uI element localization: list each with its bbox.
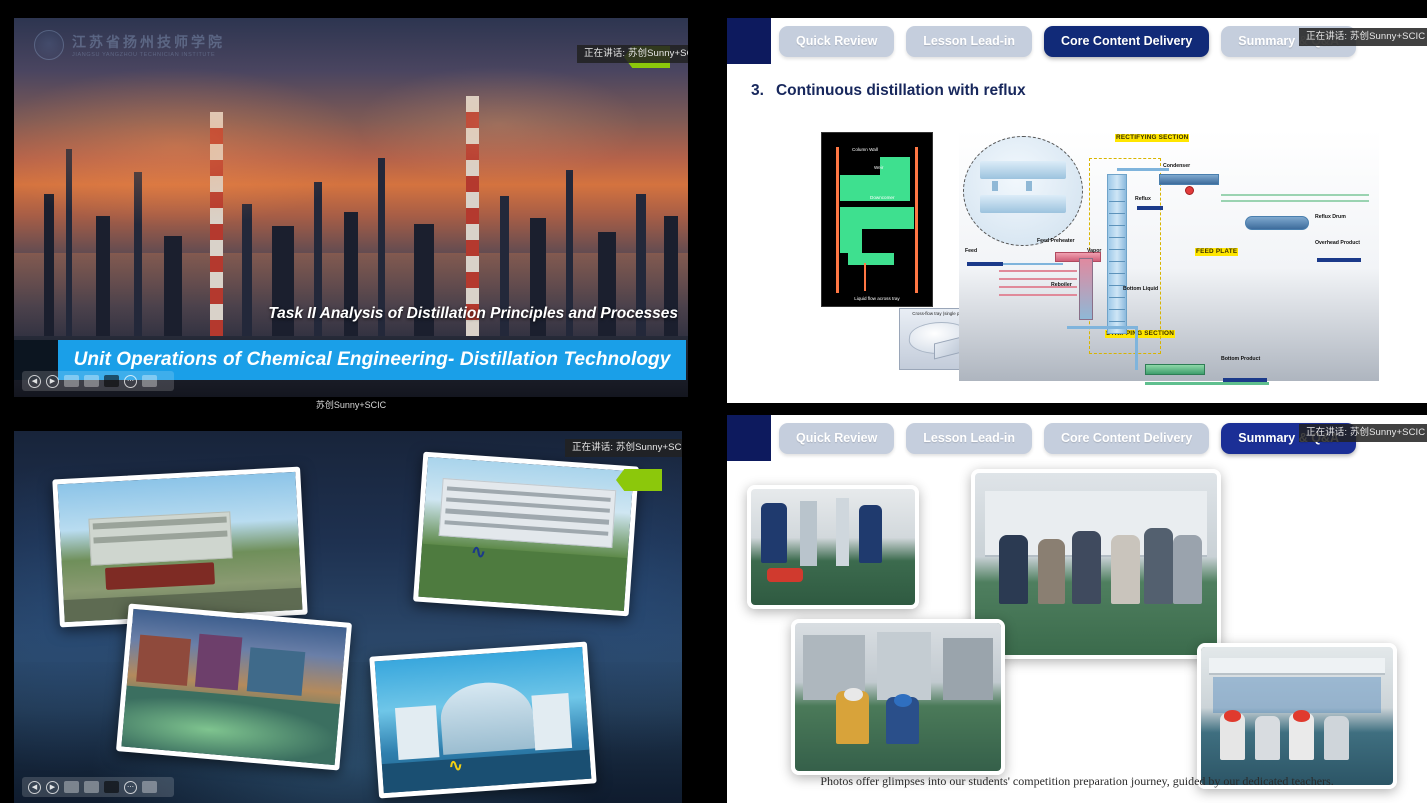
video-control-bar[interactable]: ◀ ▶ ⋯ (22, 371, 174, 391)
tower-silhouette (598, 232, 616, 344)
lab-training-photo (751, 489, 915, 605)
list-item (971, 469, 1221, 659)
bottom-product-line (1223, 378, 1267, 382)
label-bottom-product: Bottom Product (1221, 356, 1260, 363)
campus-gate-photo (58, 472, 303, 622)
label-overhead-product: Overhead Product (1315, 240, 1360, 247)
tray-cross-section-diagram: Column Wall Weir Downcomer Liquid flow a… (821, 132, 933, 307)
prev-icon[interactable]: ◀ (28, 781, 41, 794)
green-pointer-marker (616, 469, 662, 491)
next-icon[interactable]: ▶ (46, 375, 59, 388)
list-item (116, 604, 352, 771)
sky-haze (14, 253, 688, 344)
screen-share-grid: 江苏省扬州技师学院 JIANGSU YANGZHOU TECHNICIAN IN… (0, 0, 1427, 803)
feed-line (967, 262, 1003, 266)
tower-silhouette (96, 216, 110, 344)
prev-icon[interactable]: ◀ (28, 375, 41, 388)
deck-nav-block (727, 415, 771, 461)
reflux-line (1137, 206, 1163, 210)
tray-label-weir: Weir (874, 165, 883, 170)
control-room-photo (1201, 647, 1393, 785)
tab-core-content-delivery[interactable]: Core Content Delivery (1044, 423, 1209, 454)
tab-quick-review[interactable]: Quick Review (779, 423, 894, 454)
highlight-rectifying-section: RECTIFYING SECTION (1115, 134, 1189, 142)
list-item: ∿ (369, 642, 596, 799)
distillation-column (1107, 174, 1127, 334)
grid-icon[interactable] (64, 781, 79, 793)
tower-silhouette (344, 212, 358, 344)
list-item (791, 619, 1005, 775)
tower-silhouette (66, 149, 72, 344)
board-icon[interactable] (104, 375, 119, 387)
label-reflux: Reflux (1135, 196, 1151, 203)
list-item (1197, 643, 1397, 789)
gallery-icon[interactable] (84, 375, 99, 387)
distillation-flowsheet: RECTIFYING SECTION FEED PLATE STRIPPING … (959, 130, 1379, 381)
tower-silhouette (530, 218, 546, 344)
slide-caption: Photos offer glimpses into our students'… (727, 774, 1427, 789)
tower-silhouette (242, 204, 252, 344)
highlight-feed-plate: FEED PLATE (1195, 248, 1238, 256)
campus-building-photo: ∿ (418, 457, 633, 611)
modern-building-photo: ∿ (375, 647, 592, 793)
tile-speaker-name: 苏创Sunny+SCIC (14, 399, 688, 411)
next-icon[interactable]: ▶ (46, 781, 59, 794)
column-wall-right (915, 147, 918, 293)
tower-silhouette (44, 194, 54, 344)
video-control-bar[interactable]: ◀ ▶ ⋯ (22, 777, 174, 797)
institute-seal-icon (34, 30, 64, 60)
slide-panel-summary[interactable]: Quick Review Lesson Lead-in Core Content… (727, 415, 1427, 803)
tab-lesson-lead-in[interactable]: Lesson Lead-in (906, 423, 1032, 454)
active-speaker-badge: 正在讲话: 苏创Sunny+SCIC (1299, 28, 1427, 46)
tray-label-column-wall: Column Wall (852, 147, 878, 152)
overhead-vapor-line (1117, 168, 1169, 171)
label-reflux-drum: Reflux Drum (1315, 214, 1346, 221)
gallery-icon[interactable] (84, 781, 99, 793)
tab-quick-review[interactable]: Quick Review (779, 26, 894, 57)
slide-subtitle: Task II Analysis of Distillation Princip… (268, 305, 678, 323)
classroom-demo-photo (975, 473, 1217, 655)
reboiler-unit (1079, 258, 1093, 320)
watermark-title: 江苏省扬州技师学院 (72, 32, 225, 52)
tray-diagram-caption: Liquid flow across tray (822, 296, 932, 301)
bottoms-cooler-unit (1145, 364, 1205, 375)
page-title: 3. Continuous distillation with reflux (751, 82, 1026, 100)
overhead-product-line (1317, 258, 1361, 262)
tray-label-downcomer: Downcomer (870, 195, 895, 200)
board-icon[interactable] (104, 781, 119, 793)
slide-panel-core-content[interactable]: Quick Review Lesson Lead-in Core Content… (727, 18, 1427, 403)
label-bottom-liquid: Bottom Liquid (1123, 286, 1158, 293)
tower-silhouette (164, 236, 182, 344)
slide-artwork: Column Wall Weir Downcomer Liquid flow a… (821, 108, 1379, 381)
smokestack (210, 112, 223, 344)
column-wall-left (836, 147, 839, 293)
tab-core-content-delivery[interactable]: Core Content Delivery (1044, 26, 1209, 57)
valve-icon (1185, 186, 1194, 195)
video-tile-refinery-slide[interactable]: 江苏省扬州技师学院 JIANGSU YANGZHOU TECHNICIAN IN… (14, 18, 688, 397)
section-number: 3. (751, 82, 764, 100)
video-tile-campus-slide[interactable]: ∿ ∿ ◀ ▶ (14, 431, 682, 803)
label-feed-preheater: Feed Preheater (1037, 238, 1074, 245)
list-item (747, 485, 919, 609)
list-item: ∿ (413, 452, 639, 617)
condenser-unit (1159, 174, 1219, 185)
more-icon[interactable]: ⋯ (124, 375, 137, 388)
deck-nav-block (727, 18, 771, 64)
watermark-subtitle: JIANGSU YANGZHOU TECHNICIAN INSTITUTE (72, 52, 225, 58)
grid-icon[interactable] (64, 375, 79, 387)
photo-collage (737, 467, 1417, 757)
layout-icon[interactable] (142, 375, 157, 387)
label-reboiler: Reboiler (1051, 282, 1072, 289)
tower-silhouette (272, 226, 294, 344)
layout-icon[interactable] (142, 781, 157, 793)
label-feed: Feed (965, 248, 977, 255)
workshop-practice-photo (795, 623, 1001, 771)
tower-silhouette (414, 224, 434, 344)
zoom-bubble-circle (963, 136, 1083, 246)
active-speaker-badge: 正在讲话: 苏创Sunny+SCIC (1299, 424, 1427, 442)
list-item (52, 467, 307, 628)
reflux-drum-unit (1245, 216, 1309, 230)
slide-title-text: Unit Operations of Chemical Engineering-… (74, 349, 671, 371)
institute-watermark-logo: 江苏省扬州技师学院 JIANGSU YANGZHOU TECHNICIAN IN… (34, 28, 225, 62)
tower-silhouette (664, 216, 678, 344)
active-speaker-badge: 正在讲话: 苏创Sunny+SCIC (577, 45, 688, 63)
tab-lesson-lead-in[interactable]: Lesson Lead-in (906, 26, 1032, 57)
label-vapor: Vapor (1087, 248, 1101, 255)
section-title: Continuous distillation with reflux (776, 82, 1026, 100)
city-plaza-photo (121, 609, 346, 765)
tower-silhouette (134, 172, 142, 344)
more-icon[interactable]: ⋯ (124, 781, 137, 794)
active-speaker-badge: 正在讲话: 苏创Sunny+SCIC (565, 439, 682, 457)
